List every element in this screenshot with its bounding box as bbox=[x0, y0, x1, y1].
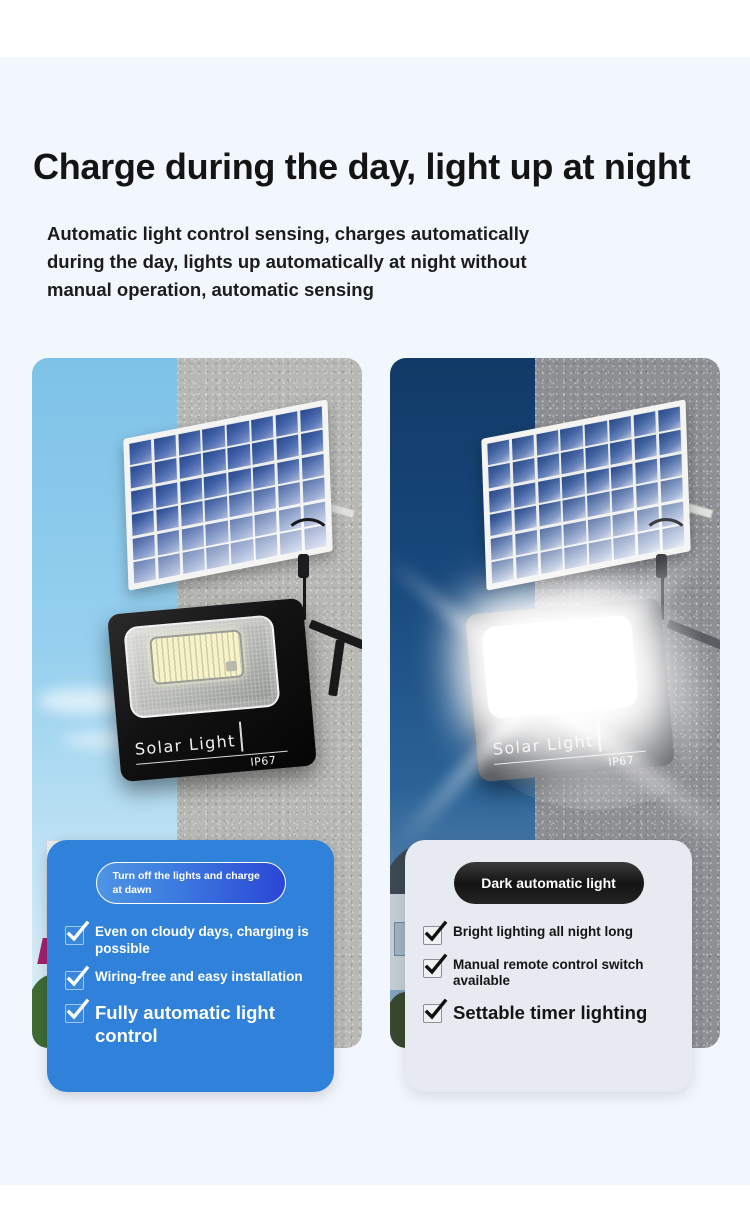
page-subtitle: Automatic light control sensing, charges… bbox=[47, 220, 647, 304]
cable-connector bbox=[298, 554, 309, 578]
feature-label: Manual remote control switch available bbox=[453, 957, 674, 990]
feature-item: Even on cloudy days, charging is possibl… bbox=[65, 924, 316, 957]
feature-item: Fully automatic light control bbox=[65, 1002, 316, 1047]
subtitle-line-3: manual operation, automatic sensing bbox=[47, 276, 647, 304]
feature-label: Even on cloudy days, charging is possibl… bbox=[95, 924, 316, 957]
feature-card-night: Dark automatic light Bright lighting all… bbox=[405, 840, 692, 1092]
feature-label: Fully automatic light control bbox=[95, 1002, 316, 1047]
feature-card-day: Turn off the lights and charge at dawn E… bbox=[47, 840, 334, 1092]
night-mode-badge[interactable]: Dark automatic light bbox=[454, 862, 644, 904]
feature-item: Manual remote control switch available bbox=[423, 957, 674, 990]
subtitle-line-1: Automatic light control sensing, charges… bbox=[47, 220, 647, 248]
power-cable bbox=[284, 518, 332, 560]
check-icon bbox=[65, 926, 84, 945]
led-array-lit bbox=[507, 629, 603, 685]
led-array bbox=[149, 629, 245, 685]
check-icon bbox=[423, 1004, 442, 1023]
ip-rating-label: IP67 bbox=[250, 754, 277, 769]
floodlight-day: Solar Light IP67 bbox=[107, 598, 317, 782]
feature-item: Wiring-free and easy installation bbox=[65, 969, 316, 990]
feature-label: Settable timer lighting bbox=[453, 1002, 647, 1025]
feature-item: Settable timer lighting bbox=[423, 1002, 674, 1025]
check-icon bbox=[65, 971, 84, 990]
page-title: Charge during the day, light up at night bbox=[33, 147, 723, 187]
ip-rating-label: IP67 bbox=[608, 754, 635, 769]
feature-item: Bright lighting all night long bbox=[423, 924, 674, 945]
cable-connector bbox=[656, 554, 667, 578]
led-sensor-chip bbox=[226, 661, 238, 672]
day-mode-badge[interactable]: Turn off the lights and charge at dawn bbox=[96, 862, 286, 904]
check-icon bbox=[423, 926, 442, 945]
feature-label: Bright lighting all night long bbox=[453, 924, 633, 940]
feature-label: Wiring-free and easy installation bbox=[95, 969, 303, 985]
subtitle-line-2: during the day, lights up automatically … bbox=[47, 248, 647, 276]
product-feature-page: Charge during the day, light up at night… bbox=[0, 0, 750, 1232]
floodlight-night: Solar Light IP67 bbox=[465, 598, 675, 782]
check-icon bbox=[423, 959, 442, 978]
check-icon bbox=[65, 1004, 84, 1023]
power-cable bbox=[642, 518, 690, 560]
